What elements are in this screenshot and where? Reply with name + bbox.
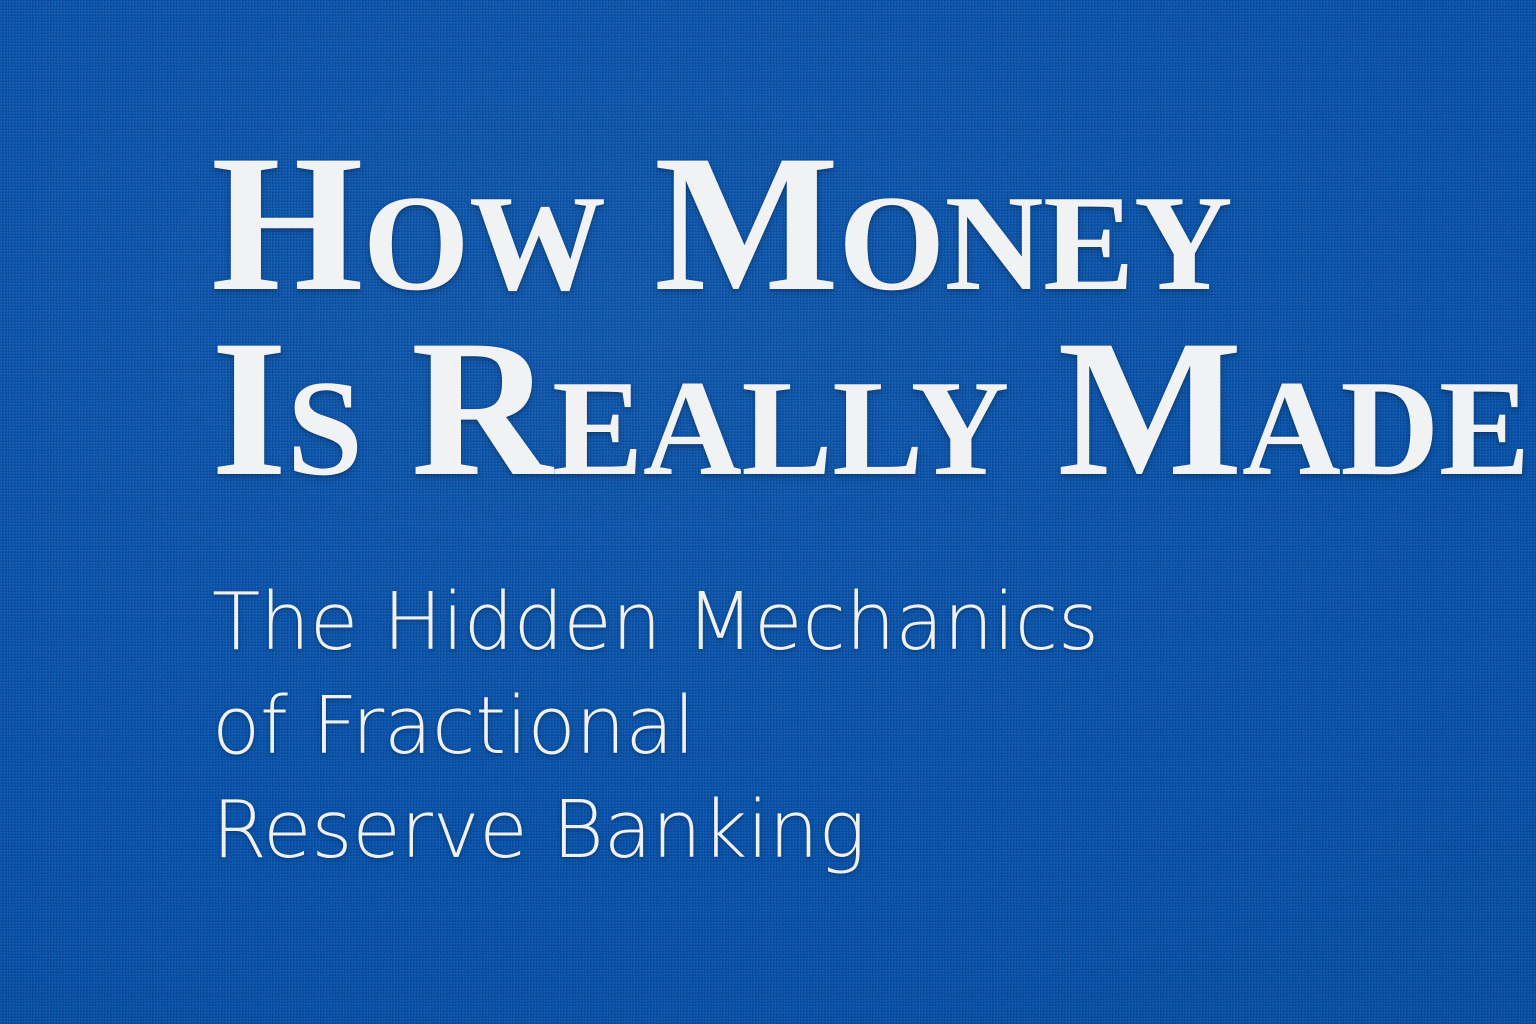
- title-line-2: Is Really Made: [211, 316, 1530, 501]
- subtitle-line-1: The Hidden Mechanics: [212, 570, 1099, 674]
- poster-content: How Money Is Really Made The Hidden Mech…: [211, 0, 1461, 1024]
- title-line-1: How Money: [211, 131, 1530, 316]
- poster-title: How Money Is Really Made: [211, 131, 1530, 501]
- poster-subtitle: The Hidden Mechanics of Fractional Reser…: [212, 570, 1099, 882]
- subtitle-line-2: of Fractional: [212, 674, 1099, 778]
- subtitle-line-3: Reserve Banking: [212, 778, 1099, 882]
- poster-canvas: How Money Is Really Made The Hidden Mech…: [0, 0, 1536, 1024]
